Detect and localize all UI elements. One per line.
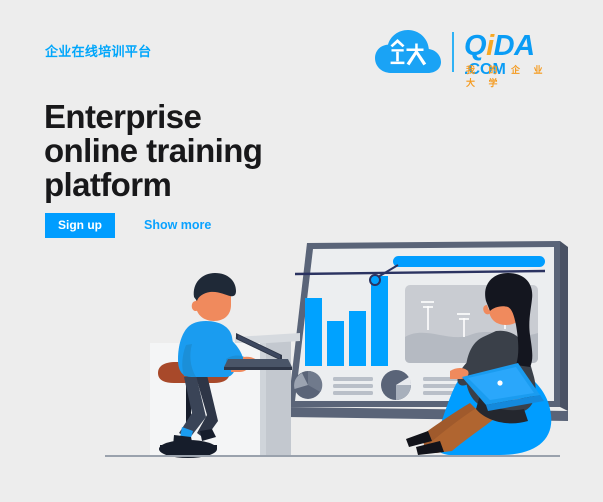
kicker-text: 企业在线培训平台: [45, 41, 151, 60]
hero-banner: 企业在线培训平台 Enterprise online training plat…: [0, 0, 603, 502]
screen-top-pill: [393, 256, 545, 267]
text-lines-1: [333, 377, 373, 395]
page-title: Enterprise online training platform: [44, 100, 344, 202]
donut-chart-2: [381, 370, 411, 400]
logo-subtitle: 我 的 企 业 大 学: [466, 63, 564, 89]
headline-line-3: platform: [44, 168, 344, 202]
logo-letter-i: i: [486, 30, 494, 62]
headline-line-2: online training: [44, 134, 344, 168]
cloud-icon: [374, 29, 442, 75]
logo-letters-da: DA: [494, 30, 535, 62]
laptop-logo: [497, 380, 502, 385]
logo-letter-q: Q: [464, 30, 486, 62]
training-illustration: [0, 225, 603, 502]
logo-divider: [452, 32, 454, 72]
brand-logo[interactable]: QiDA.COM 我 的 企 业 大 学: [374, 27, 564, 79]
ground-line: [105, 455, 560, 457]
headline-line-1: Enterprise: [44, 100, 344, 134]
logo-wordmark: QiDA.COM: [464, 31, 564, 61]
laptop-base: [224, 359, 292, 367]
